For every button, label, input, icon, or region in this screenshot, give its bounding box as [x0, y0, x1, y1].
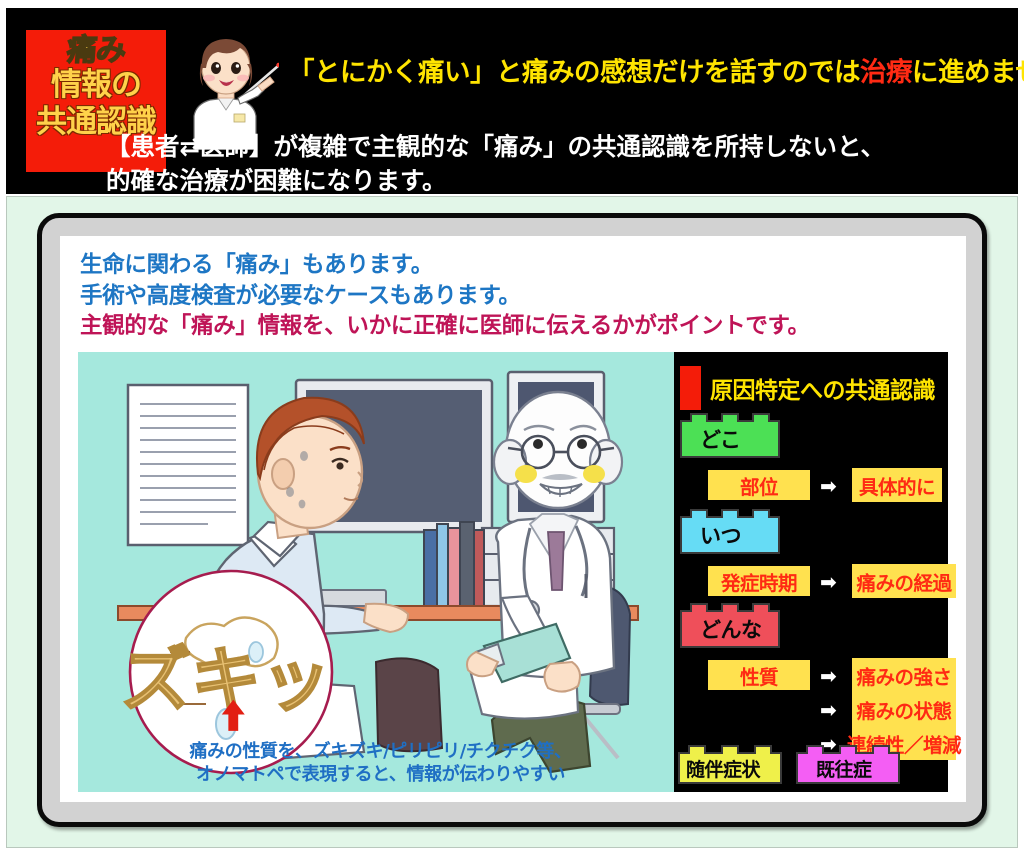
magnifier-onomatopoeia-text: ズキッ	[121, 639, 331, 721]
slide-root: 痛み 情報の 共通認識	[0, 0, 1024, 856]
lego-block-accompanying-symptoms[interactable]: 随伴症状	[678, 752, 782, 784]
caption-line-1: 痛みの性質を、ズキズキ/ピリピリ/チクチク等、	[108, 740, 653, 763]
arrow-icon-2: ➡	[820, 572, 837, 592]
device-bottom-bezel	[60, 802, 966, 812]
logo-kanji-pain: 痛み	[66, 34, 126, 67]
lego-block-what-kind[interactable]: どんな	[680, 610, 780, 648]
lego-block-label: 既往症	[816, 755, 872, 782]
arrow-icon-3: ➡	[820, 666, 837, 686]
intro-line-3: 主観的な「痛み」情報を、いかに正確に医師に伝えるかがポイントです。	[80, 311, 940, 342]
lego-block-where[interactable]: どこ	[680, 420, 780, 458]
source-box-label: 部位	[740, 471, 778, 500]
target-box-progression[interactable]: 痛みの経過	[852, 564, 956, 598]
intro-text-block: 生命に関わる「痛み」もあります。 手術や高度検査が必要なケースもあります。 主観…	[80, 250, 940, 342]
device-frame: 生命に関わる「痛み」もあります。 手術や高度検査が必要なケースもあります。 主観…	[37, 213, 987, 827]
headline-prefix: 「とにかく痛い」と痛みの感想だけを話すのでは	[288, 57, 860, 88]
target-box-label: 具体的に	[859, 471, 935, 500]
content-row: ズキッ 痛みの性質を、ズキズキ/ピリピリ/チクチク等、 オノマトペで表現すると、…	[78, 352, 948, 792]
common-understanding-panel: 原因特定への共通認識 どこ 部位 ➡	[674, 352, 948, 792]
intro-line-1: 生命に関わる「痛み」もあります。	[80, 250, 940, 281]
lego-block-label: どこ	[700, 424, 740, 454]
headline-accent: 治療	[860, 57, 912, 88]
device-screen: 生命に関わる「痛み」もあります。 手術や高度検査が必要なケースもあります。 主観…	[60, 236, 966, 804]
consultation-illustration: ズキッ 痛みの性質を、ズキズキ/ピリピリ/チクチク等、 オノマトペで表現すると、…	[78, 352, 674, 792]
header-subtext-line-2: 的確な治療が困難になります。	[28, 164, 1008, 198]
source-box-region[interactable]: 部位	[708, 470, 810, 500]
illustration-caption: 痛みの性質を、ズキズキ/ピリピリ/チクチク等、 オノマトペで表現すると、情報が伝…	[108, 740, 653, 786]
red-marker-bar	[680, 366, 701, 410]
target-box-condition[interactable]: 痛みの状態	[852, 692, 956, 726]
lego-studs	[806, 745, 890, 754]
header-subtext-line-1: 【患者⇄医師】が複雑で主観的な「痛み」の共通認識を所持しないと、	[28, 130, 1008, 164]
arrow-icon-4: ➡	[820, 700, 837, 720]
source-box-quality[interactable]: 性質	[708, 660, 810, 690]
lego-block-when[interactable]: いつ	[680, 516, 780, 554]
header-headline: 「とにかく痛い」と痛みの感想だけを話すのでは治療に進めません。	[288, 50, 1008, 89]
source-box-onset[interactable]: 発症時期	[708, 566, 810, 596]
caption-line-2: オノマトペで表現すると、情報が伝わりやすい	[108, 763, 653, 786]
target-box-label: 痛みの経過	[856, 567, 951, 596]
lego-block-medical-history[interactable]: 既往症	[796, 752, 900, 784]
lego-block-label: どんな	[700, 614, 762, 644]
lego-studs	[690, 413, 770, 422]
header-subtext: 【患者⇄医師】が複雑で主観的な「痛み」の共通認識を所持しないと、 的確な治療が困…	[28, 130, 1008, 198]
target-box-specific[interactable]: 具体的に	[852, 468, 942, 502]
intro-line-2: 手術や高度検査が必要なケースもあります。	[80, 281, 940, 312]
target-box-intensity[interactable]: 痛みの強さ	[852, 658, 956, 692]
illustration-svg: ズキッ	[78, 352, 674, 792]
panel-title: 原因特定への共通認識	[710, 371, 935, 405]
lego-studs	[690, 603, 770, 612]
arrow-icon-1: ➡	[820, 476, 837, 496]
logo-line-1: 情報の	[51, 67, 141, 104]
lego-block-label: 随伴症状	[686, 755, 760, 782]
source-box-label: 発症時期	[721, 567, 797, 596]
source-box-label: 性質	[740, 661, 778, 690]
headline-suffix: に進めません。	[912, 57, 1024, 88]
lego-studs	[688, 745, 772, 754]
panel-title-row: 原因特定への共通認識	[680, 366, 935, 410]
header-banner: 痛み 情報の 共通認識	[6, 8, 1018, 194]
lego-block-label: いつ	[700, 520, 741, 550]
target-box-label: 痛みの状態	[856, 695, 951, 724]
lego-studs	[690, 509, 770, 518]
slide-body-background: 生命に関わる「痛み」もあります。 手術や高度検査が必要なケースもあります。 主観…	[6, 196, 1018, 848]
target-box-label: 痛みの強さ	[856, 661, 951, 690]
